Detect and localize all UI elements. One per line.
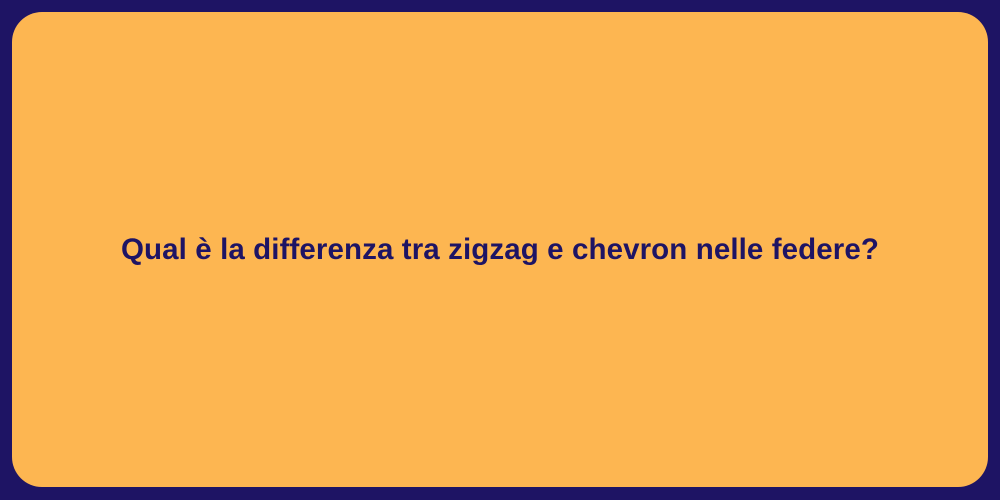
page-title: Qual è la differenza tra zigzag e chevro…: [121, 232, 879, 269]
question-card: Qual è la differenza tra zigzag e chevro…: [12, 12, 988, 487]
page-background: Qual è la differenza tra zigzag e chevro…: [0, 0, 1000, 500]
question-container: Qual è la differenza tra zigzag e chevro…: [12, 232, 988, 269]
